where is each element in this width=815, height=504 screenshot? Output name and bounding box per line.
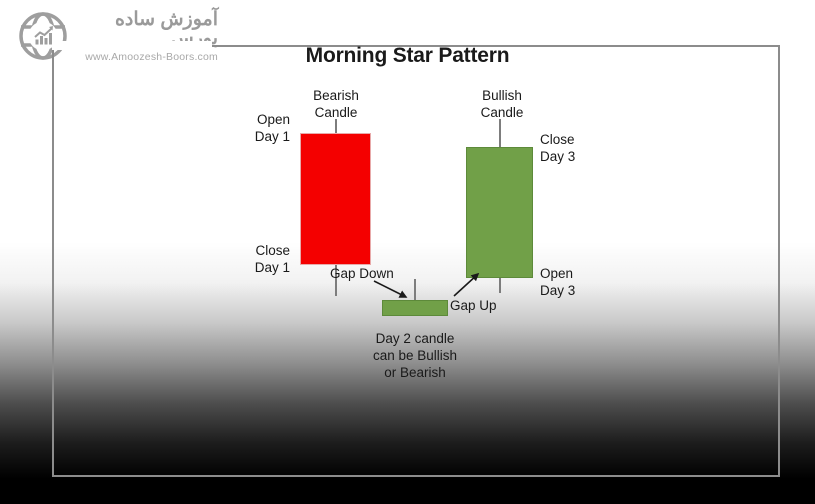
gap-up-arrow (454, 274, 478, 296)
annotation-arrows (0, 0, 815, 504)
slide-canvas: آموزش ساده بورس www.Amoozesh-Boors.com M… (0, 0, 815, 504)
gap-down-arrow (374, 281, 406, 297)
